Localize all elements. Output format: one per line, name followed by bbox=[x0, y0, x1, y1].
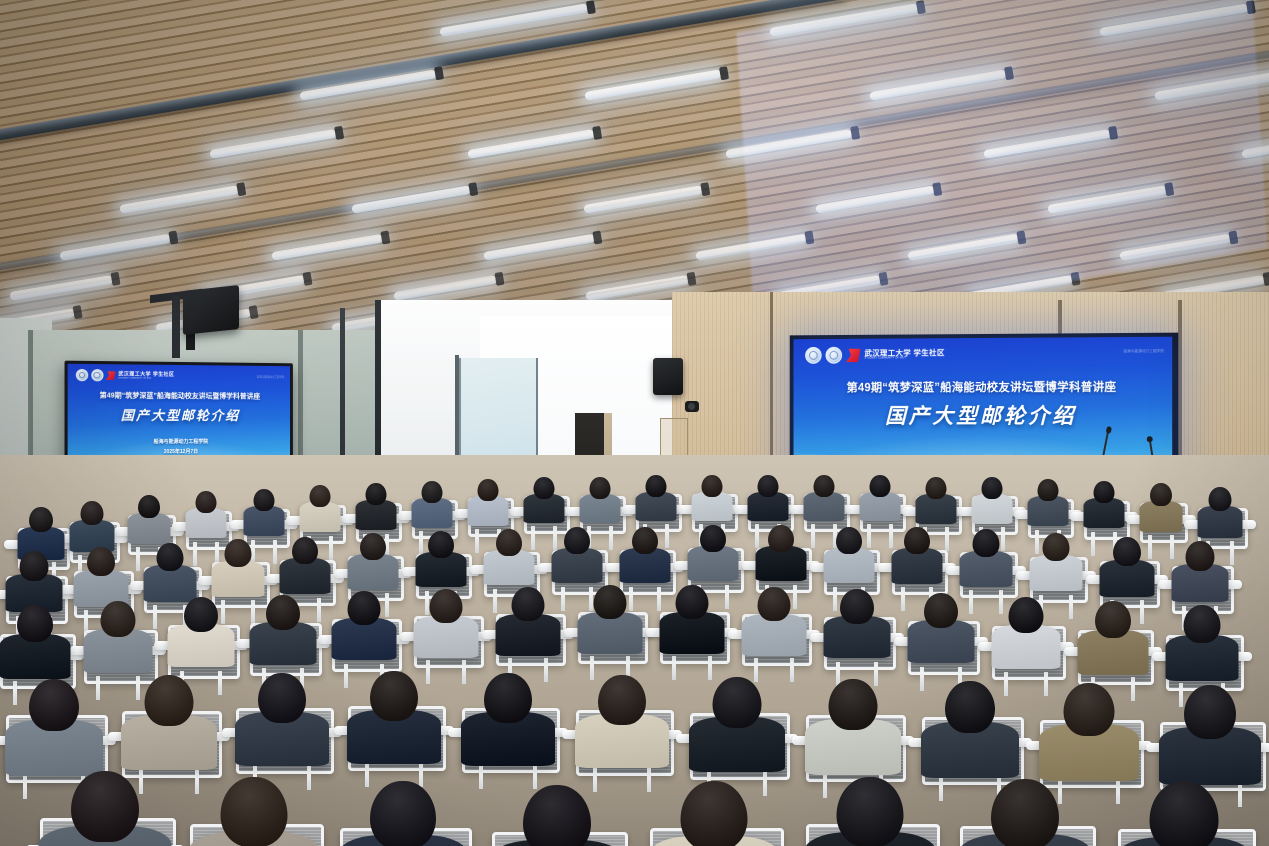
seat-leg bbox=[153, 605, 157, 629]
audience-member bbox=[576, 675, 668, 779]
audience-member bbox=[186, 491, 226, 543]
audience-member bbox=[122, 675, 216, 781]
person-head bbox=[1184, 605, 1221, 643]
person-head bbox=[196, 491, 217, 513]
person-head bbox=[484, 673, 532, 723]
audience-member bbox=[824, 527, 874, 589]
audience-member bbox=[496, 587, 560, 663]
person-head bbox=[991, 779, 1059, 846]
person-head bbox=[292, 537, 318, 564]
seat-leg bbox=[1230, 541, 1234, 565]
person-head bbox=[1043, 533, 1070, 561]
person-head bbox=[837, 777, 904, 846]
audience-member bbox=[806, 679, 900, 786]
audience-member bbox=[742, 587, 806, 663]
person-head bbox=[1150, 781, 1219, 846]
person-head bbox=[836, 527, 862, 554]
audience-member bbox=[960, 529, 1012, 593]
audience-member bbox=[636, 475, 676, 526]
person-head bbox=[145, 675, 194, 726]
seat-leg bbox=[1069, 595, 1073, 619]
person-head bbox=[594, 585, 627, 619]
audience-member bbox=[348, 671, 440, 775]
audience-member bbox=[1140, 483, 1182, 537]
audience-member bbox=[1078, 601, 1148, 683]
audience-member bbox=[992, 597, 1060, 677]
person-head bbox=[512, 587, 545, 621]
audience-member bbox=[552, 527, 602, 589]
person-head bbox=[1064, 683, 1115, 736]
wordmark: 武汉理工大学 学生社区 STUDENT COMMUNITY OF WUT bbox=[118, 372, 174, 380]
wordmark: 武汉理工大学 学生社区 STUDENT COMMUNITY OF WUT bbox=[865, 350, 945, 360]
audience-member bbox=[756, 525, 806, 587]
person-head bbox=[1184, 685, 1236, 739]
seat-leg bbox=[561, 587, 565, 611]
slide-logo-row: 武汉理工大学 学生社区 STUDENT COMMUNITY OF WUT bbox=[805, 346, 945, 364]
person-head bbox=[266, 595, 300, 630]
audience-member bbox=[1166, 605, 1238, 689]
monitor-mount-post bbox=[172, 296, 180, 358]
slide-corner-note: 船海与能源动力工程学院 bbox=[1124, 349, 1164, 354]
person-head bbox=[758, 475, 779, 497]
seat-leg bbox=[273, 540, 277, 564]
lecture-hall-photo: 武汉理工大学 学生社区 STUDENT COMMUNITY OF WUT 船海与… bbox=[0, 0, 1269, 846]
person-head bbox=[768, 525, 794, 552]
school-emblem-icon bbox=[91, 369, 103, 381]
audience-member bbox=[806, 777, 934, 846]
person-head bbox=[101, 601, 136, 637]
person-head bbox=[360, 533, 386, 560]
person-head bbox=[702, 475, 723, 497]
audience-member bbox=[236, 673, 328, 777]
audience-member bbox=[84, 601, 152, 681]
audience-member bbox=[300, 485, 340, 537]
person-head bbox=[829, 679, 878, 730]
audience-member bbox=[1172, 541, 1228, 609]
school-emblem-icon bbox=[826, 347, 843, 364]
seat-leg bbox=[1091, 532, 1095, 556]
person-head bbox=[258, 673, 306, 723]
audience-member bbox=[1030, 533, 1082, 597]
person-head bbox=[496, 529, 522, 556]
audience-member bbox=[40, 771, 170, 846]
wordmark-en: STUDENT COMMUNITY OF WUT bbox=[865, 357, 945, 360]
person-head bbox=[1113, 537, 1141, 566]
wall-notice-frame bbox=[660, 418, 688, 456]
university-emblem-icon bbox=[76, 369, 88, 381]
right-speaker-icon bbox=[653, 358, 683, 395]
seat-leg bbox=[945, 527, 949, 551]
person-head bbox=[29, 679, 79, 731]
audience-member bbox=[340, 781, 466, 846]
seat-leg bbox=[901, 587, 905, 611]
audience-member bbox=[244, 489, 284, 541]
university-emblem-icon bbox=[805, 347, 821, 364]
person-head bbox=[254, 489, 275, 511]
person-head bbox=[366, 483, 387, 505]
person-head bbox=[138, 495, 160, 518]
person-head bbox=[81, 501, 104, 525]
person-head bbox=[221, 777, 288, 846]
audience-member bbox=[356, 483, 396, 535]
audience-member bbox=[892, 527, 942, 590]
person-head bbox=[926, 477, 947, 499]
audience-member bbox=[748, 475, 788, 526]
person-head bbox=[370, 671, 418, 721]
audience-member bbox=[484, 529, 534, 591]
audience-member bbox=[462, 673, 554, 777]
person-head bbox=[676, 585, 709, 619]
audience-member bbox=[580, 477, 620, 528]
person-head bbox=[681, 781, 748, 846]
wordmark-en: STUDENT COMMUNITY OF WUT bbox=[118, 377, 174, 380]
person-head bbox=[713, 677, 762, 728]
student-community-swoosh-icon bbox=[106, 371, 116, 380]
audience-member bbox=[960, 779, 1090, 846]
audience-member bbox=[412, 481, 452, 533]
audience-member bbox=[0, 605, 70, 687]
audience-member bbox=[414, 589, 478, 665]
person-head bbox=[87, 547, 115, 576]
person-head bbox=[700, 525, 726, 552]
person-head bbox=[924, 593, 958, 628]
audience-member bbox=[824, 589, 890, 666]
person-head bbox=[982, 477, 1003, 499]
audience-member bbox=[692, 475, 732, 526]
person-head bbox=[1009, 597, 1044, 633]
student-community-swoosh-icon bbox=[846, 348, 861, 362]
person-head bbox=[632, 527, 658, 554]
seat-leg bbox=[317, 598, 321, 622]
person-head bbox=[422, 481, 443, 503]
slide-organizer: 船海与能源动力工程学院 bbox=[68, 438, 290, 445]
person-head bbox=[17, 605, 53, 642]
person-head bbox=[20, 551, 49, 581]
person-head bbox=[814, 475, 835, 497]
person-head bbox=[1095, 601, 1131, 638]
slide-headline: 第49期“筑梦深蓝”船海能动校友讲坛暨博学科普讲座 bbox=[794, 378, 1173, 395]
audience-member bbox=[804, 475, 844, 526]
audience-member bbox=[1118, 781, 1250, 846]
seat-leg bbox=[136, 547, 140, 571]
seat-leg bbox=[475, 529, 479, 553]
audience-member bbox=[620, 527, 670, 589]
person-head bbox=[225, 539, 252, 567]
audience-member bbox=[690, 677, 784, 783]
person-head bbox=[184, 597, 218, 632]
person-head bbox=[428, 531, 454, 558]
person-head bbox=[598, 675, 646, 725]
audience-member bbox=[578, 585, 642, 661]
person-head bbox=[904, 527, 930, 554]
audience-member bbox=[468, 479, 508, 531]
audience-member bbox=[908, 593, 974, 671]
slide-corner-note: 船海与能源动力工程学院 bbox=[257, 375, 284, 379]
person-head bbox=[945, 681, 995, 733]
slide-title: 国产大型邮轮介绍 bbox=[794, 400, 1173, 430]
audience-member bbox=[190, 777, 318, 846]
slide-headline: 第49期“筑梦深蓝”船海能动校友讲坛暨博学科普讲座 bbox=[68, 390, 290, 401]
person-head bbox=[1094, 481, 1115, 503]
audience-member bbox=[250, 595, 316, 673]
person-head bbox=[564, 527, 590, 554]
audience-member bbox=[922, 681, 1018, 789]
student-audience bbox=[0, 455, 1269, 846]
person-head bbox=[157, 543, 184, 571]
person-head bbox=[310, 485, 331, 507]
person-head bbox=[348, 591, 381, 625]
person-head bbox=[840, 589, 874, 624]
person-head bbox=[758, 587, 791, 621]
audience-member bbox=[1084, 481, 1124, 533]
audience-member bbox=[972, 477, 1012, 529]
person-head bbox=[523, 785, 591, 846]
person-head bbox=[71, 771, 139, 842]
seat-leg bbox=[725, 585, 729, 609]
person-head bbox=[646, 475, 667, 497]
audience-member bbox=[1028, 479, 1068, 531]
audience-member bbox=[492, 785, 622, 846]
seat-leg bbox=[811, 524, 815, 548]
ceiling-camera-icon bbox=[685, 401, 699, 412]
person-head bbox=[1150, 483, 1172, 506]
audience-member bbox=[916, 477, 956, 529]
person-head bbox=[534, 477, 555, 499]
slide-logo-row: 武汉理工大学 学生社区 STUDENT COMMUNITY OF WUT bbox=[76, 369, 174, 382]
audience-member bbox=[212, 539, 264, 603]
person-head bbox=[1209, 487, 1232, 511]
person-head bbox=[478, 479, 499, 501]
person-head bbox=[590, 477, 611, 499]
audience-member bbox=[416, 531, 466, 593]
audience-member bbox=[650, 781, 778, 846]
audience-member bbox=[860, 475, 900, 526]
person-head bbox=[370, 781, 436, 846]
seat-leg bbox=[344, 664, 348, 688]
person-head bbox=[870, 475, 891, 497]
audience-member bbox=[688, 525, 738, 587]
audience-member bbox=[1100, 537, 1154, 603]
audience-member bbox=[168, 597, 234, 675]
audience-member bbox=[348, 533, 398, 596]
audience-member bbox=[1040, 683, 1138, 793]
audience-member bbox=[524, 477, 564, 528]
person-head bbox=[973, 529, 1000, 557]
audience-member bbox=[1198, 487, 1242, 543]
person-head bbox=[1038, 479, 1059, 501]
slide-title: 国产大型邮轮介绍 bbox=[68, 405, 290, 425]
audience-member bbox=[280, 537, 330, 600]
audience-member bbox=[660, 585, 724, 661]
audience-member bbox=[332, 591, 396, 667]
person-head bbox=[1186, 541, 1215, 571]
person-head bbox=[29, 507, 53, 532]
audience-member bbox=[128, 495, 170, 549]
person-head bbox=[430, 589, 463, 623]
seat-leg bbox=[609, 526, 613, 550]
